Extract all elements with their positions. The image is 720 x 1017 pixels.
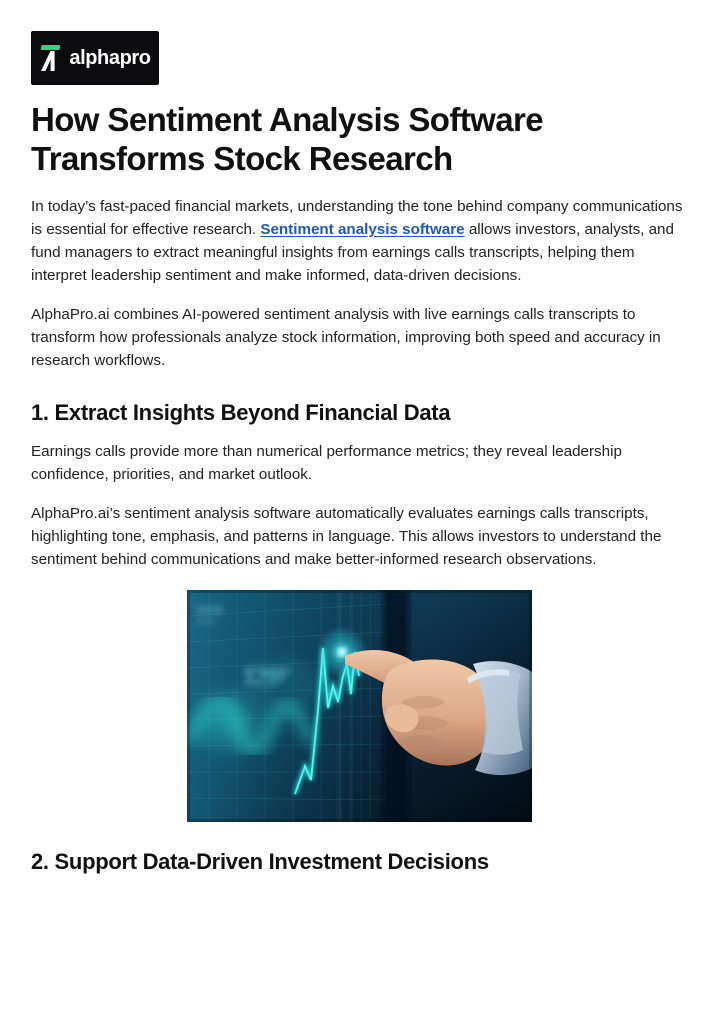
document-page: alphapro How Sentiment Analysis Software… bbox=[0, 0, 720, 1017]
alphapro-arrow-mark-icon bbox=[39, 45, 63, 71]
alphapro-logo[interactable]: alphapro bbox=[31, 31, 159, 85]
section1-paragraph-1: Earnings calls provide more than numeric… bbox=[31, 440, 687, 486]
stock-chart-touchscreen-photo: 1,750 bbox=[187, 590, 532, 822]
intro-second-paragraph: AlphaPro.ai combines AI-powered sentimen… bbox=[31, 303, 687, 372]
sentiment-analysis-software-link[interactable]: Sentiment analysis software bbox=[260, 221, 464, 238]
intro-paragraph: In today’s fast-paced financial markets,… bbox=[31, 195, 687, 287]
svg-text:1,750: 1,750 bbox=[245, 669, 285, 686]
document-content: alphapro How Sentiment Analysis Software… bbox=[31, 31, 687, 903]
alphapro-logo-text: alphapro bbox=[69, 48, 150, 68]
section-heading-2: 2. Support Data-Driven Investment Decisi… bbox=[31, 848, 687, 876]
section-heading-1: 1. Extract Insights Beyond Financial Dat… bbox=[31, 399, 687, 427]
figure-container: 1,750 bbox=[31, 590, 687, 822]
page-title: How Sentiment Analysis Software Transfor… bbox=[31, 101, 681, 179]
section1-paragraph-2: AlphaPro.ai’s sentiment analysis softwar… bbox=[31, 502, 687, 571]
